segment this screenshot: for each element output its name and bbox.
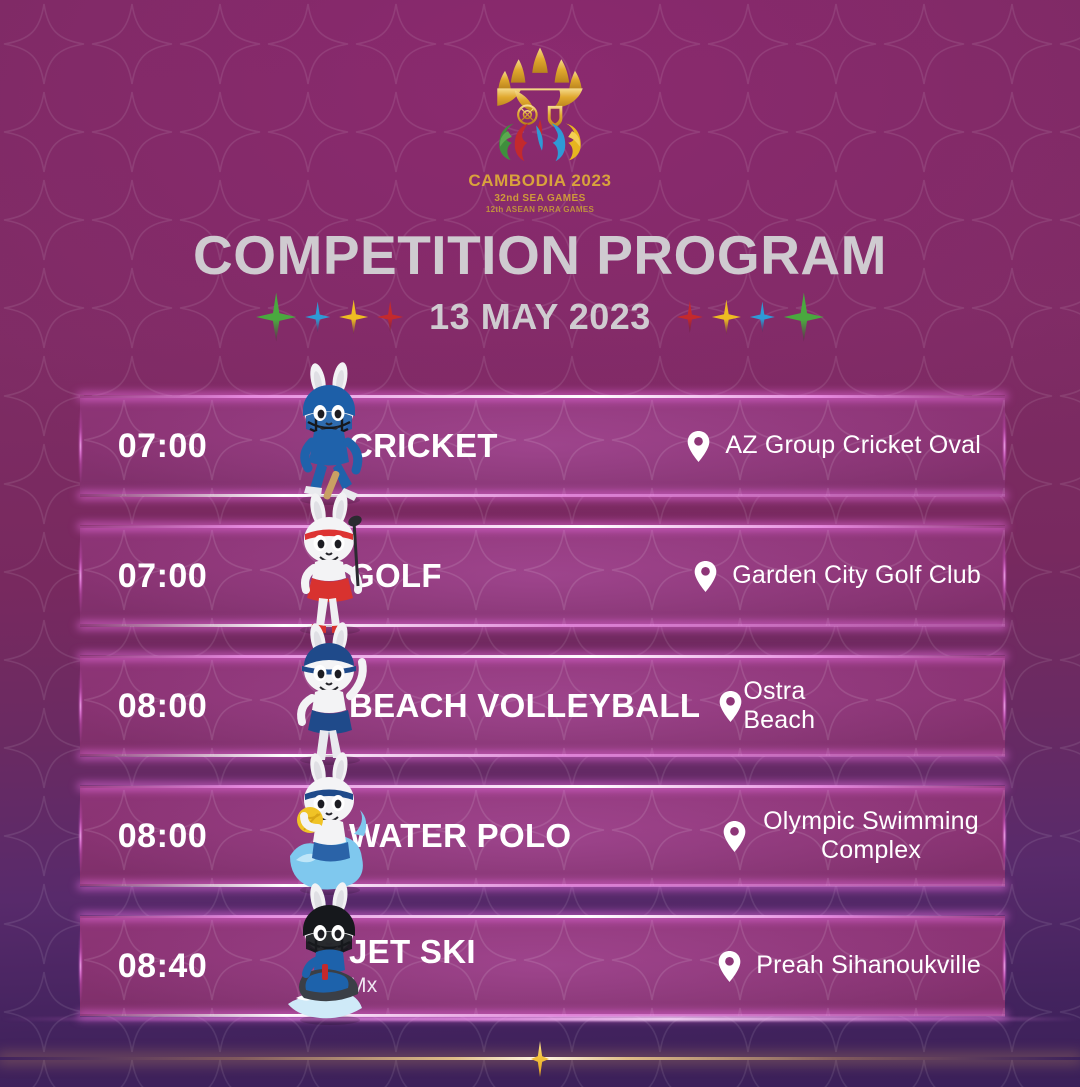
page-title: COMPETITION PROGRAM [0, 228, 1080, 283]
row-time: 08:00 [80, 687, 245, 726]
sparkle-group-right [677, 293, 824, 342]
row-top-glow [80, 395, 1005, 398]
row-venue-name: Preah Sihanoukville [756, 951, 981, 981]
row-venue-block: AZ Group Cricket Oval [498, 430, 1005, 463]
sparkle-0 [256, 293, 296, 342]
row-venue-block: Garden City Golf Club [442, 560, 1005, 593]
logo-event-name: CAMBODIA 2023 [468, 171, 611, 191]
row-venue-name: Garden City Golf Club [732, 561, 981, 591]
sparkle-3 [784, 293, 824, 342]
row-bottom-glow [80, 884, 1005, 887]
map-pin-icon [722, 820, 747, 853]
footer-magenta-glow [0, 1017, 1080, 1021]
sparkle-1 [712, 300, 741, 335]
row-bottom-glow [80, 494, 1005, 497]
map-pin-icon [717, 950, 742, 983]
schedule-row[interactable]: 08:00 WATER POLO [80, 786, 1005, 886]
row-sport-block: BEACH VOLLEYBALL [349, 688, 743, 724]
row-venue-name: AZ Group Cricket Oval [725, 431, 981, 461]
row-sport-subtitle: Mx [349, 974, 476, 998]
row-top-glow [80, 525, 1005, 528]
sparkle-1 [305, 302, 330, 333]
logo-subtitle-para-games: 12th ASEAN PARA GAMES [468, 205, 611, 214]
row-venue-block: Olympic Swimming Complex [571, 807, 1005, 866]
schedule-row[interactable]: 07:00 [80, 396, 1005, 496]
row-venue-name: Ostra Beach [743, 677, 855, 736]
map-pin-icon [718, 690, 743, 723]
sparkle-2 [750, 302, 775, 333]
footer-ornament [0, 1019, 1080, 1087]
schedule-row[interactable]: 08:00 BEACH VOLLEYBALL [80, 656, 1005, 756]
row-sport-name: JET SKI [349, 934, 476, 970]
date-row: 13 MAY 2023 [0, 288, 1080, 346]
row-sport-block: JET SKI Mx [349, 934, 476, 998]
row-sport-name: CRICKET [349, 428, 498, 464]
row-sport-block: WATER POLO [349, 818, 571, 854]
row-time: 07:00 [80, 557, 245, 596]
row-sport-name: GOLF [349, 558, 442, 594]
row-bottom-glow [80, 624, 1005, 627]
schedule-list: 07:00 [80, 396, 1005, 1046]
row-top-glow [80, 785, 1005, 788]
schedule-row[interactable]: 08:40 JET [80, 916, 1005, 1016]
row-time: 08:00 [80, 817, 245, 856]
row-sport-name: WATER POLO [349, 818, 571, 854]
event-date: 13 MAY 2023 [417, 296, 663, 338]
schedule-row[interactable]: 07:00 GOLF [80, 526, 1005, 626]
row-top-glow [80, 655, 1005, 658]
row-venue-block: Preah Sihanoukville [476, 950, 1005, 983]
row-sport-block: GOLF [349, 558, 442, 594]
gold-sparkle-icon [531, 1041, 549, 1077]
row-time: 07:00 [80, 427, 245, 466]
logo-subtitle-games: 32nd SEA GAMES [468, 193, 611, 204]
map-pin-icon [693, 560, 718, 593]
event-logo: CAMBODIA 2023 32nd SEA GAMES 12th ASEAN … [0, 34, 1080, 214]
row-sport-name: BEACH VOLLEYBALL [349, 688, 700, 724]
sparkle-group-left [256, 293, 403, 342]
sparkle-3 [377, 301, 403, 333]
map-pin-icon [686, 430, 711, 463]
sparkle-0 [677, 301, 703, 333]
row-top-glow [80, 915, 1005, 918]
sea-games-crown-naga-logo-icon [472, 34, 608, 170]
row-sport-block: CRICKET [349, 428, 498, 464]
row-bottom-glow [80, 754, 1005, 757]
row-venue-name: Olympic Swimming Complex [761, 807, 981, 866]
sparkle-2 [339, 300, 368, 335]
row-time: 08:40 [80, 947, 245, 986]
row-venue-block: Ostra Beach [743, 677, 1005, 736]
poster-canvas: CAMBODIA 2023 32nd SEA GAMES 12th ASEAN … [0, 0, 1080, 1087]
